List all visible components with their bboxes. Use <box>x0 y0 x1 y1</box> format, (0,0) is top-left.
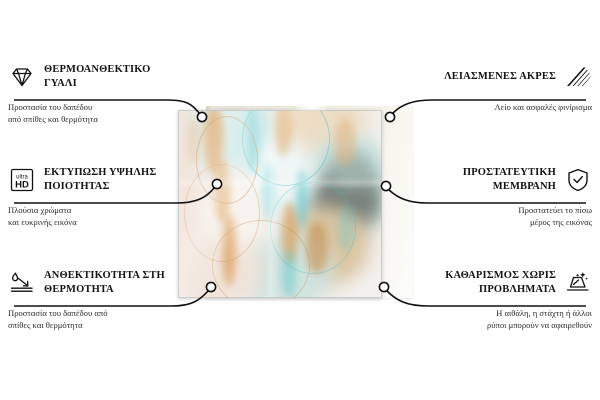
sparkle-wipe-icon <box>564 269 592 297</box>
shield-check-icon <box>564 166 592 194</box>
product-image-stage <box>178 106 412 298</box>
feature-heat-durability: ΑΝΘΕΚΤΙΚΟΤΗΤΑ ΣΤΗ ΘΕΡΜΟΤΗΤΑ Προστασία το… <box>8 266 186 332</box>
feature-description: Προστασία του δαπέδου από σπίθες και θερ… <box>8 101 186 126</box>
feature-high-quality-print: ultra HD ΕΚΤΥΠΩΣΗ ΥΨΗΛΗΣ ΠΟΙΟΤΗΤΑΣ Πλούσ… <box>8 163 186 229</box>
feature-title: ΕΚΤΥΠΩΣΗ ΥΨΗΛΗΣ ΠΟΙΟΤΗΤΑΣ <box>44 166 186 194</box>
feature-description: Πλούσια χρώματα και ευκρινής εικόνα <box>8 204 186 229</box>
svg-text:HD: HD <box>15 180 29 191</box>
feature-easy-cleaning: ΚΑΘΑΡΙΣΜΟΣ ΧΩΡΙΣ ΠΡΟΒΛΗΜΑΤΑ Η αιθάλη, η … <box>414 266 592 332</box>
feature-title: ΠΡΟΣΤΑΤΕΥΤΙΚΗ ΜΕΜΒΡΑΝΗ <box>414 166 556 194</box>
feature-header: ΚΑΘΑΡΙΣΜΟΣ ΧΩΡΙΣ ΠΡΟΒΛΗΜΑΤΑ <box>414 266 592 300</box>
feature-description: Προστασία του δαπέδου από σπίθες και θερ… <box>8 307 186 332</box>
feature-title: ΛΕΙΑΣΜΕΝΕΣ ΑΚΡΕΣ <box>414 70 556 84</box>
flame-deflect-icon <box>8 269 36 297</box>
feature-title: ΘΕΡΜΟΑΝΘΕΚΤΙΚΟ ΓΥΑΛΙ <box>44 63 186 91</box>
feature-polished-edges: ΛΕΙΑΣΜΕΝΕΣ ΑΚΡΕΣ Λείο και ασφαλές φινίρι… <box>414 60 592 113</box>
feature-header: ΠΡΟΣΤΑΤΕΥΤΙΚΗ ΜΕΜΒΡΑΝΗ <box>414 163 592 197</box>
diamond-icon <box>8 63 36 91</box>
feature-header: ΛΕΙΑΣΜΕΝΕΣ ΑΚΡΕΣ <box>414 60 592 94</box>
feature-heat-resistant-glass: ΘΕΡΜΟΑΝΘΕΚΤΙΚΟ ΓΥΑΛΙ Προστασία του δαπέδ… <box>8 60 186 126</box>
feature-header: ΘΕΡΜΟΑΝΘΕΚΤΙΚΟ ΓΥΑΛΙ <box>8 60 186 94</box>
diagonal-stripes-icon <box>564 63 592 91</box>
glass-art-panel <box>178 110 382 298</box>
feature-description: Προστατεύει το πίσω μέρος της εικόνας <box>414 204 592 229</box>
feature-protective-membrane: ΠΡΟΣΤΑΤΕΥΤΙΚΗ ΜΕΜΒΡΑΝΗ Προστατεύει το πί… <box>414 163 592 229</box>
ultra-hd-badge-icon: ultra HD <box>8 166 36 194</box>
feature-description: Η αιθάλη, η στάχτη ή άλλοι ρύποι μπορούν… <box>414 307 592 332</box>
feature-header: ultra HD ΕΚΤΥΠΩΣΗ ΥΨΗΛΗΣ ΠΟΙΟΤΗΤΑΣ <box>8 163 186 197</box>
feature-title: ΚΑΘΑΡΙΣΜΟΣ ΧΩΡΙΣ ΠΡΟΒΛΗΜΑΤΑ <box>414 269 556 297</box>
feature-header: ΑΝΘΕΚΤΙΚΟΤΗΤΑ ΣΤΗ ΘΕΡΜΟΤΗΤΑ <box>8 266 186 300</box>
feature-description: Λείο και ασφαλές φινίρισμα <box>414 101 592 113</box>
feature-title: ΑΝΘΕΚΤΙΚΟΤΗΤΑ ΣΤΗ ΘΕΡΜΟΤΗΤΑ <box>44 269 186 297</box>
